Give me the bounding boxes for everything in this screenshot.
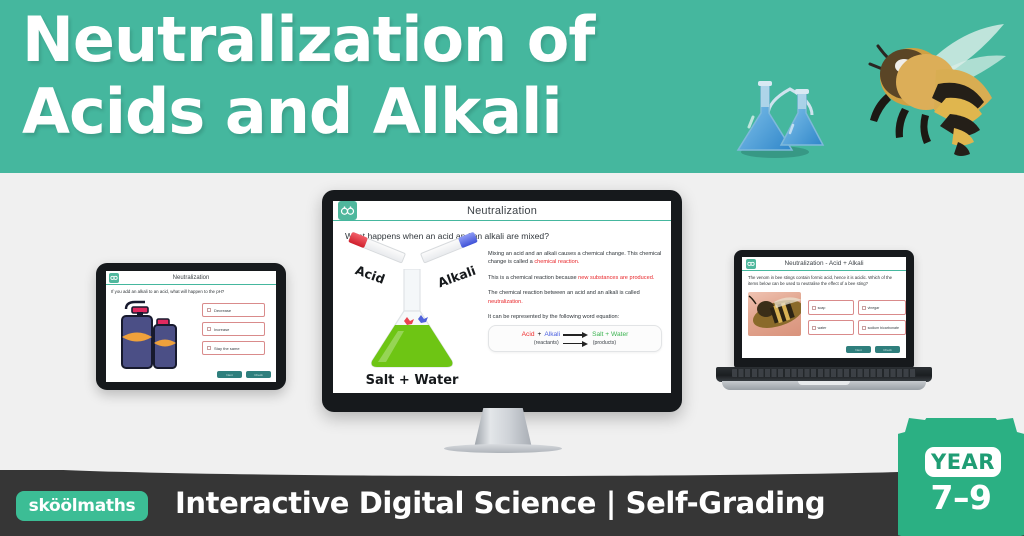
monitor-app: Neutralization What happens when an acid… bbox=[333, 201, 671, 393]
soap-bottles-icon bbox=[110, 297, 198, 371]
option-label: sodium bicarbonate bbox=[868, 326, 899, 330]
tablet-app-header: Neutralization bbox=[106, 271, 276, 285]
paragraph-1: Mixing an acid and an alkali causes a ch… bbox=[488, 250, 662, 267]
laptop-buttons[interactable]: Next Check bbox=[846, 346, 900, 353]
caption-arrow-icon bbox=[563, 341, 589, 346]
tablet-question: If you add an alkali to an acid, what wi… bbox=[111, 289, 276, 294]
option-label: water bbox=[818, 326, 827, 330]
monitor-app-body: What happens when an acid and an alkali … bbox=[333, 221, 671, 393]
check-button-label: Check bbox=[254, 373, 263, 377]
laptop-app-title: Neutralization - Acid + Alkali bbox=[742, 260, 906, 267]
p3-highlight: neutralization. bbox=[488, 299, 523, 305]
laptop-keyboard bbox=[732, 369, 916, 377]
p2-text: This is a chemical reaction because bbox=[488, 275, 578, 281]
tablet-device: Neutralization If you add an alkali to a… bbox=[96, 263, 286, 390]
option-label: vinegar bbox=[868, 306, 880, 310]
footer-tagline: Interactive Digital Science | Self-Gradi… bbox=[175, 486, 825, 520]
paragraph-4: It can be represented by the following w… bbox=[488, 313, 662, 321]
tablet-options[interactable]: Decrease Increase Stay the same bbox=[202, 297, 265, 371]
paragraph-3: The chemical reaction between an acid an… bbox=[488, 289, 662, 306]
laptop-options[interactable]: soap vinegar water sodium bicarbonate bbox=[808, 292, 906, 336]
option-soap[interactable]: soap bbox=[808, 300, 854, 315]
p3-text: The chemical reaction between an acid an… bbox=[488, 290, 640, 296]
next-button[interactable]: Next bbox=[217, 371, 242, 378]
page-title: Neutralization of Acids and Alkali bbox=[22, 4, 762, 148]
option-label: Increase bbox=[214, 327, 229, 332]
checkbox-icon[interactable] bbox=[862, 326, 866, 330]
laptop-device: Neutralization - Acid + Alkali The venom… bbox=[716, 250, 932, 396]
monitor-question: What happens when an acid and an alkali … bbox=[345, 231, 662, 241]
word-equation-captions: (reactants) (products) bbox=[495, 340, 655, 346]
equation-arrow-icon bbox=[563, 332, 589, 337]
laptop-app-header: Neutralization - Acid + Alkali bbox=[742, 257, 906, 271]
title-line-2: Acids and Alkali bbox=[22, 76, 762, 148]
header-banner: Neutralization of Acids and Alkali bbox=[0, 0, 1024, 173]
p1-highlight: chemical reaction. bbox=[534, 259, 579, 265]
option-vinegar[interactable]: vinegar bbox=[858, 300, 906, 315]
word-equation: Acid + Alkali Salt + Water bbox=[495, 331, 655, 338]
option-label: soap bbox=[818, 306, 826, 310]
option-stay-the-same[interactable]: Stay the same bbox=[202, 341, 265, 355]
promo-graphic: Neutralization of Acids and Alkali bbox=[0, 0, 1024, 536]
checkbox-icon[interactable] bbox=[812, 306, 816, 310]
equation-product: Salt + Water bbox=[592, 331, 628, 338]
check-button[interactable]: Check bbox=[875, 346, 900, 353]
checkbox-icon[interactable] bbox=[862, 306, 866, 310]
laptop-screen: Neutralization - Acid + Alkali The venom… bbox=[742, 257, 906, 358]
desktop-monitor: Neutralization What happens when an acid… bbox=[322, 190, 682, 412]
option-sodium-bicarbonate[interactable]: sodium bicarbonate bbox=[858, 320, 906, 335]
check-button[interactable]: Check bbox=[246, 371, 271, 378]
p2-highlight: new substances are produced. bbox=[578, 275, 654, 281]
next-button[interactable]: Next bbox=[846, 346, 871, 353]
tablet-buttons[interactable]: Next Check bbox=[217, 371, 271, 378]
paragraph-2: This is a chemical reaction because new … bbox=[488, 274, 662, 282]
equation-reactant-1: Acid bbox=[522, 331, 535, 338]
next-button-label: Next bbox=[855, 348, 861, 352]
word-equation-box: Acid + Alkali Salt + Water (reactants) bbox=[488, 325, 662, 352]
bee-icon bbox=[826, 22, 1006, 172]
tablet-app-title: Neutralization bbox=[106, 275, 276, 281]
badge-year-box: YEAR bbox=[925, 447, 1001, 477]
badge-range: 7–9 bbox=[898, 478, 1024, 517]
option-increase[interactable]: Increase bbox=[202, 322, 265, 336]
monitor-app-title: Neutralization bbox=[333, 205, 671, 217]
monitor-app-header: Neutralization bbox=[333, 201, 671, 221]
check-button-label: Check bbox=[883, 348, 892, 352]
badge-year-label: YEAR bbox=[931, 450, 995, 474]
title-line-1: Neutralization of bbox=[22, 3, 594, 76]
checkbox-icon[interactable] bbox=[207, 346, 211, 350]
option-label: Decrease bbox=[214, 308, 231, 313]
next-button-label: Next bbox=[226, 373, 232, 377]
badge-starburst-icon bbox=[898, 418, 1024, 536]
skoolmaths-footer-logo: sköölmaths bbox=[16, 491, 148, 521]
laptop-question: The venom in bee stings contain formic a… bbox=[748, 275, 900, 287]
tablet-screen: Neutralization If you add an alkali to a… bbox=[106, 271, 276, 382]
salt-water-label: Salt + Water bbox=[350, 373, 474, 388]
checkbox-icon[interactable] bbox=[812, 326, 816, 330]
option-water[interactable]: water bbox=[808, 320, 854, 335]
bee-photo bbox=[748, 292, 801, 336]
laptop-trackpad-notch bbox=[798, 381, 850, 385]
checkbox-icon[interactable] bbox=[207, 327, 211, 331]
reaction-flask bbox=[364, 269, 460, 373]
reactants-caption: (reactants) bbox=[534, 340, 559, 346]
monitor-stand bbox=[474, 408, 532, 448]
equation-reactant-2: Alkali bbox=[544, 331, 560, 338]
footer-logo-text: sköölmaths bbox=[29, 496, 136, 516]
option-decrease[interactable]: Decrease bbox=[202, 303, 265, 317]
checkbox-icon[interactable] bbox=[207, 308, 211, 312]
year-badge: YEAR 7–9 bbox=[898, 418, 1024, 536]
products-caption: (products) bbox=[593, 340, 616, 346]
equation-plus: + bbox=[537, 331, 541, 338]
monitor-foot bbox=[444, 444, 562, 453]
monitor-explanation: Mixing an acid and an alkali causes a ch… bbox=[488, 245, 662, 387]
option-label: Stay the same bbox=[214, 346, 240, 351]
monitor-screen: Neutralization What happens when an acid… bbox=[333, 201, 671, 393]
neutralization-diagram: Acid Alkali bbox=[342, 245, 482, 387]
